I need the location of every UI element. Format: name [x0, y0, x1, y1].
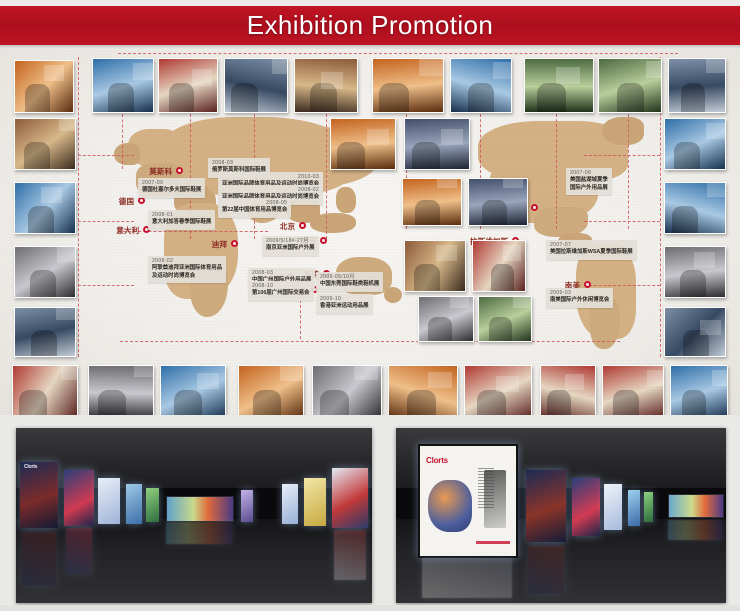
lightbox: [282, 484, 298, 524]
connector-line: [118, 231, 268, 232]
photo-subject: [31, 330, 57, 356]
event-callout-7[interactable]: 2009/5/18#-27月南京亚洲国际户外展: [262, 236, 319, 256]
reflection: [334, 530, 366, 580]
city-label: 莫斯科: [149, 166, 172, 177]
photo-shoe-booth-green[interactable]: [158, 58, 218, 113]
photo-orange-jackets-a[interactable]: [602, 365, 664, 415]
event-date: 2008-01: [152, 212, 211, 219]
page-title: Exhibition Promotion: [0, 6, 740, 45]
photo-highlight: [706, 123, 726, 139]
connector-line: [78, 285, 134, 286]
photo-highlight: [556, 67, 580, 84]
photo-highlight: [496, 376, 519, 392]
photo-highlight: [272, 58, 288, 74]
photo-highlight: [437, 178, 457, 188]
city-marker-3[interactable]: [231, 240, 238, 247]
footer-band: [0, 605, 740, 611]
photo-subject: [477, 390, 506, 415]
event-name: 第22届中国体育用品博览会: [222, 207, 287, 215]
event-date: 2007-07: [550, 242, 633, 249]
photo-subject: [537, 83, 566, 112]
event-name: 意大利加答春季国际鞋展: [152, 219, 211, 227]
photo-subject: [547, 390, 571, 415]
photo-subject: [320, 390, 349, 415]
hero-lightbox: Clorts: [418, 444, 518, 558]
photo-showroom-shelves[interactable]: [160, 365, 226, 415]
photo-subject: [30, 270, 56, 297]
lightbox: [126, 484, 142, 524]
reflection: [66, 528, 92, 574]
photo-subject: [253, 390, 281, 415]
lightbox: [604, 484, 622, 530]
event-date: 2009-03: [550, 290, 609, 297]
photo-clorts-poster-girl[interactable]: [540, 365, 596, 415]
photo-highlight: [707, 182, 726, 197]
event-name: 美国盐湖城夏季: [570, 177, 608, 185]
event-name: 中国东莞国际鞋类鞋机展: [320, 281, 379, 289]
photo-booth-clorts-b[interactable]: [404, 118, 470, 170]
photo-subject: [25, 84, 50, 112]
event-callout-9[interactable]: 2008-10第106届广州国际交易会: [248, 281, 314, 301]
photo-highlight: [706, 58, 726, 73]
lightbox: [572, 478, 600, 536]
photo-subject: [414, 264, 440, 291]
connector-line: [122, 109, 123, 169]
photo-subject: [674, 142, 700, 169]
reflection: [668, 520, 722, 540]
photo-team-meeting[interactable]: [14, 182, 76, 234]
event-date: 2008-02: [222, 187, 319, 194]
connector-line: [584, 155, 660, 156]
city-marker-11[interactable]: [584, 281, 591, 288]
photo-highlight: [61, 365, 78, 380]
event-date: 2007-09: [142, 180, 201, 187]
ad-footer-bar: [476, 541, 510, 544]
photo-subject: [174, 390, 202, 415]
photo-building-facade[interactable]: [664, 118, 726, 170]
photo-subject: [231, 83, 258, 112]
photo-crowd-expo-b[interactable]: [468, 178, 528, 226]
event-date: 2008-05: [222, 200, 287, 207]
photo-clorts-red-booth[interactable]: [668, 58, 726, 113]
event-callout-13[interactable]: 2007-07美国拉斯维加斯WSA夏季国际鞋展: [546, 240, 637, 260]
photo-highlight: [44, 65, 64, 81]
event-callout-10[interactable]: 2009-05/10月中国东莞国际鞋类鞋机展: [316, 272, 383, 292]
photo-display-wall[interactable]: [664, 246, 726, 298]
photo-highlight: [56, 307, 76, 320]
photo-clorts-banner[interactable]: [238, 365, 304, 415]
connector-line: [326, 109, 327, 239]
event-callout-2[interactable]: 2008-01意大利加答春季国际鞋展: [148, 210, 215, 230]
city-marker-1[interactable]: [138, 197, 145, 204]
photo-subject: [19, 390, 47, 415]
photo-stage-red[interactable]: [472, 240, 526, 292]
photo-white-shelving[interactable]: [598, 58, 662, 113]
connector-line: [78, 221, 134, 222]
photo-highlight: [647, 370, 664, 386]
connector-line: [78, 155, 134, 156]
connector-line: [556, 109, 557, 229]
photo-subject: [613, 390, 639, 415]
photo-highlight: [441, 129, 463, 145]
photo-subject: [482, 200, 507, 225]
photo-subject: [680, 270, 706, 297]
photo-hall-aisle[interactable]: [14, 307, 76, 357]
photo-highlight: [450, 296, 469, 308]
event-name: 及运动时尚博览会: [152, 273, 222, 281]
connector-line: [628, 109, 629, 229]
lightbox: [146, 488, 159, 522]
city-marker-4[interactable]: [299, 222, 306, 229]
lightbox: [644, 492, 653, 522]
mascot-illustration: [428, 480, 472, 532]
map-stage: 莫斯科德国意大利迪拜北京南京广州东莞香港盐湖城拉斯维加斯南美 2008-03俄罗…: [0, 49, 740, 415]
photo-subject: [24, 142, 50, 169]
photo-subject: [108, 83, 134, 112]
photo-highlight: [503, 245, 521, 261]
clorts-logo: Clorts: [426, 456, 448, 465]
photo-booth-entrance[interactable]: [14, 246, 76, 298]
clorts-logo: Clorts: [24, 464, 37, 470]
photo-subject: [28, 206, 54, 233]
event-callout-6[interactable]: 2008-02阿联酋迪拜亚洲国际体育用品及运动时尚博览会: [148, 256, 226, 283]
photo-highlight: [57, 246, 76, 262]
lightbox: [20, 462, 58, 528]
photo-subject: [617, 83, 644, 112]
poster-root: Exhibition Promotion: [0, 0, 740, 611]
event-callout-14[interactable]: 2009-03南美国际户外休闲博览会: [546, 288, 613, 308]
photo-cologne-cathedral[interactable]: [14, 60, 74, 113]
photo-subject: [681, 83, 705, 112]
photo-highlight: [134, 365, 154, 377]
photo-subject: [415, 200, 440, 225]
reflection: [528, 546, 564, 594]
reflection: [22, 532, 56, 586]
event-date: 2008-03: [212, 160, 266, 167]
city-label: 德国: [119, 196, 134, 207]
photo-highlight: [197, 373, 219, 389]
city-label: 北京: [280, 221, 295, 232]
photo-subject: [491, 264, 514, 291]
photo-highlight: [700, 320, 721, 335]
event-name: 南京亚洲国际户外展: [266, 245, 315, 253]
event-date: 2009/5/18#-27月: [266, 238, 315, 245]
photo-highlight: [694, 252, 715, 268]
city-label: 意大利: [116, 225, 139, 236]
lightbox: [628, 490, 640, 526]
photo-highlight: [436, 245, 457, 261]
photo-highlight: [712, 370, 728, 386]
lightbox: [526, 470, 566, 542]
lightbox: [304, 478, 326, 526]
panel-subway-corridor-closeup: Clorts: [396, 428, 726, 603]
photo-subject: [98, 390, 126, 415]
photo-highlight: [419, 59, 443, 76]
photo-orange-jackets-b[interactable]: [670, 365, 728, 415]
event-date: 2007-08: [570, 170, 608, 177]
photo-highlight: [192, 69, 212, 86]
event-callout-11[interactable]: 2009-10香港亚洲运动用品展: [316, 294, 373, 314]
photo-subject: [407, 390, 436, 415]
connector-line: [584, 221, 660, 222]
photo-highlight: [354, 365, 378, 380]
photo-subject: [489, 317, 512, 341]
event-callout-12[interactable]: 2007-08美国盐湖城夏季国际户外用品展: [566, 168, 612, 195]
photo-crowd-expo-a[interactable]: [402, 178, 462, 226]
lightbox: [98, 478, 120, 524]
photo-subject: [428, 317, 452, 341]
event-name: 第106届广州国际交易会: [252, 290, 310, 298]
lightbox: [241, 490, 253, 522]
photo-subject: [337, 142, 365, 169]
photo-booth-night[interactable]: [404, 240, 466, 292]
photo-team-photo-red[interactable]: [372, 58, 444, 113]
event-name: 南美国际户外休闲博览会: [550, 297, 609, 305]
photo-subject: [379, 83, 409, 112]
photo-group-photo[interactable]: [478, 296, 532, 342]
photo-shelf-visitors[interactable]: [224, 58, 288, 113]
event-date: 2008-03: [252, 270, 311, 277]
photo-highlight: [493, 62, 512, 79]
photo-subject: [412, 142, 440, 169]
reflection: [422, 558, 512, 598]
photo-booth-dark-entry[interactable]: [12, 365, 78, 415]
photo-expo-orange-hall[interactable]: [312, 365, 382, 415]
connector-line: [584, 285, 660, 286]
city-marker-9[interactable]: [531, 204, 538, 211]
connector-line: [120, 341, 620, 342]
lightbox: [64, 470, 94, 526]
photo-booth-clorts-a[interactable]: [330, 118, 396, 170]
reflection: [166, 522, 232, 544]
photo-highlight: [646, 61, 662, 78]
photo-highlight: [321, 72, 343, 89]
connector-line: [118, 53, 678, 54]
event-date: 2010-03: [222, 174, 319, 181]
photo-highlight: [565, 374, 584, 390]
photo-expo-floor-right[interactable]: [664, 307, 726, 357]
photo-highlight: [41, 187, 62, 203]
far-screen: [166, 496, 234, 522]
photo-highlight: [133, 63, 154, 80]
event-date: 2008-02: [152, 258, 222, 265]
photo-highlight: [428, 372, 452, 388]
photo-expo-red-carpet[interactable]: [464, 365, 532, 415]
event-name: 国际户外用品展: [570, 185, 608, 193]
photo-highlight: [503, 178, 523, 188]
photo-highlight: [513, 296, 531, 308]
panel-subway-corridor-wide: Clorts: [16, 428, 372, 603]
event-callout-1[interactable]: 2007-09德国杜塞尔多夫国际鞋展: [138, 178, 205, 198]
photo-subject: [672, 206, 698, 233]
photo-subject: [468, 83, 494, 112]
event-callout-5[interactable]: 2008-05第22届中国体育用品博览会: [218, 198, 291, 218]
photo-moscow-palace[interactable]: [92, 58, 154, 113]
event-name: 阿联酋迪拜亚洲国际体育用品: [152, 265, 222, 273]
photo-subject: [682, 390, 706, 415]
event-date: 2009-05/10月: [320, 274, 379, 281]
photo-highlight: [59, 118, 76, 131]
photo-highlight: [367, 129, 389, 145]
photo-booth-display[interactable]: [450, 58, 512, 113]
city-marker-5[interactable]: [320, 237, 327, 244]
far-screen: [668, 494, 724, 518]
photo-booth-orange[interactable]: [418, 296, 474, 342]
city-marker-0[interactable]: [176, 167, 183, 174]
event-date: 2008-10: [252, 283, 310, 290]
photo-red-banners[interactable]: [664, 182, 726, 234]
event-name: 美国拉斯维加斯WSA夏季国际鞋展: [550, 249, 633, 257]
photo-award-stage[interactable]: [388, 365, 458, 415]
photo-subject: [169, 83, 194, 112]
connector-line: [78, 57, 79, 357]
photo-booth-crowd-blue[interactable]: [294, 58, 358, 113]
lightbox: [332, 468, 368, 528]
photo-shoe-wall-showroom[interactable]: [14, 118, 76, 170]
photo-expo-hall-wide[interactable]: [524, 58, 594, 113]
event-date: 2009-10: [320, 296, 369, 303]
event-name: 德国杜塞尔多夫国际鞋展: [142, 187, 201, 195]
event-name: 香港亚洲运动用品展: [320, 303, 369, 311]
photo-highlight: [280, 365, 302, 381]
photo-factory-towers[interactable]: [88, 365, 154, 415]
city-label: 迪拜: [212, 239, 227, 250]
ad-copy-lines: [478, 468, 494, 508]
